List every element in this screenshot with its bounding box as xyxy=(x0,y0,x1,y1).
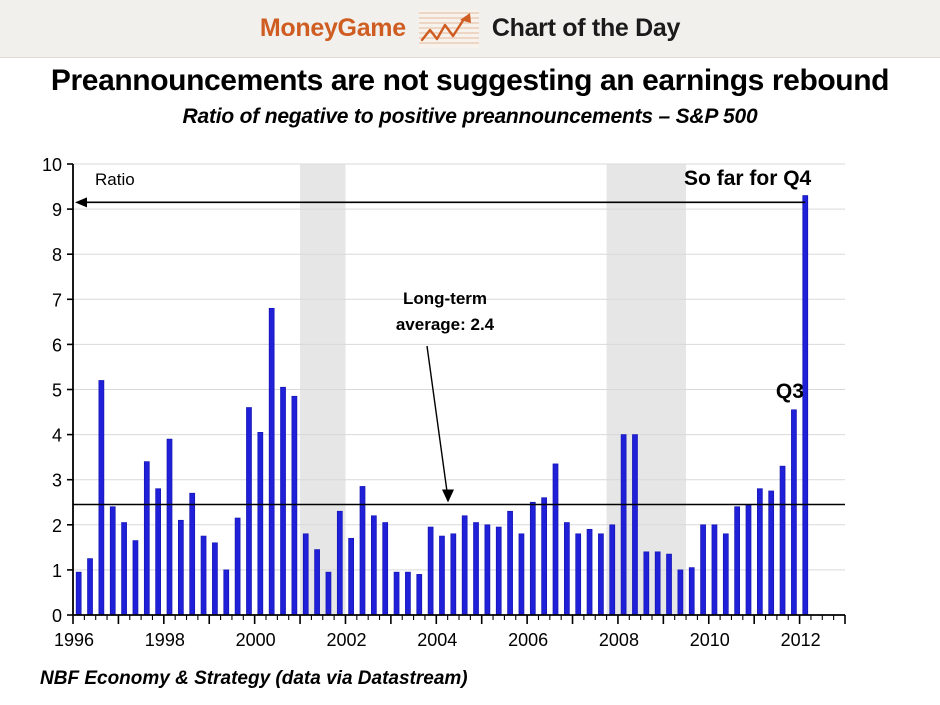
x-tick-label: 2006 xyxy=(508,630,548,650)
bar xyxy=(281,387,286,615)
bar xyxy=(689,568,694,615)
q3-label: Q3 xyxy=(776,380,804,403)
bar xyxy=(167,439,172,615)
source-footer: NBF Economy & Strategy (data via Datastr… xyxy=(40,668,468,690)
bar xyxy=(542,498,547,615)
bar xyxy=(553,464,558,615)
moneygame-logo-text: MoneyGame xyxy=(260,14,406,43)
bar xyxy=(530,502,535,615)
bars-group xyxy=(76,196,808,615)
y-tick-label: 5 xyxy=(52,381,62,401)
bar xyxy=(428,527,433,615)
x-tick-labels-group: 199619982000200220042006200820102012 xyxy=(54,630,821,650)
bar xyxy=(496,527,501,615)
bar xyxy=(201,536,206,615)
bar xyxy=(349,538,354,615)
bar xyxy=(292,396,297,615)
bar xyxy=(451,534,456,615)
y-tick-label: 3 xyxy=(52,471,62,491)
brand-header-bar: MoneyGame Chart of the Day xyxy=(0,0,940,58)
bar xyxy=(644,552,649,615)
bar xyxy=(110,507,115,615)
bar xyxy=(791,410,796,615)
y-tick-label: 4 xyxy=(52,426,62,446)
bar xyxy=(269,308,274,615)
bar xyxy=(144,462,149,615)
bar xyxy=(371,516,376,615)
bar xyxy=(360,486,365,615)
bar xyxy=(667,554,672,615)
so-far-for-q4-label: So far for Q4 xyxy=(684,167,812,190)
x-tick-label: 2012 xyxy=(781,630,821,650)
bar xyxy=(587,529,592,615)
bar xyxy=(178,520,183,615)
average-callout-arrow-line xyxy=(427,346,447,492)
bar xyxy=(156,489,161,615)
bar xyxy=(405,572,410,615)
bar xyxy=(76,572,81,615)
bar xyxy=(576,534,581,615)
q4-callout-arrow-head xyxy=(75,197,87,207)
bar xyxy=(701,525,706,615)
bar xyxy=(303,534,308,615)
bar xyxy=(326,572,331,615)
bar xyxy=(258,432,263,615)
bar xyxy=(508,511,513,615)
bar xyxy=(564,523,569,615)
chart-of-the-day-text: Chart of the Day xyxy=(492,14,680,43)
bar xyxy=(803,196,808,615)
y-tick-label: 1 xyxy=(52,561,62,581)
bar xyxy=(723,534,728,615)
x-tick-label: 2004 xyxy=(417,630,457,650)
bar xyxy=(757,489,762,615)
bar xyxy=(485,525,490,615)
bar xyxy=(337,511,342,615)
bar xyxy=(462,516,467,615)
bar xyxy=(439,536,444,615)
bar xyxy=(224,570,229,615)
bar xyxy=(769,491,774,615)
average-callout-line1: Long-term xyxy=(403,289,487,308)
bar xyxy=(519,534,524,615)
bar xyxy=(632,435,637,615)
y-tick-label: 2 xyxy=(52,516,62,536)
bar xyxy=(394,572,399,615)
x-tick-label: 2002 xyxy=(326,630,366,650)
y-tick-label: 9 xyxy=(52,200,62,220)
bar xyxy=(655,552,660,615)
bar xyxy=(235,518,240,615)
bar xyxy=(99,380,104,615)
gridlines-group xyxy=(73,164,845,570)
axis-unit-label: Ratio xyxy=(95,170,135,189)
average-callout-line2: average: 2.4 xyxy=(396,315,495,334)
bar xyxy=(610,525,615,615)
y-tick-label: 0 xyxy=(52,606,62,626)
brand-header-inner: MoneyGame Chart of the Day xyxy=(260,10,680,48)
bar xyxy=(746,505,751,615)
page-title: Preannouncements are not suggesting an e… xyxy=(0,64,940,98)
y-tick-label: 6 xyxy=(52,335,62,355)
bar xyxy=(417,574,422,615)
bar xyxy=(735,507,740,615)
annotations-group: RatioSo far for Q4Q3Long-termaverage: 2.… xyxy=(75,167,812,503)
bar xyxy=(474,523,479,615)
average-callout-arrow-head xyxy=(442,490,454,503)
bar xyxy=(383,523,388,615)
bar xyxy=(315,550,320,615)
y-tick-label: 7 xyxy=(52,290,62,310)
y-tick-label: 10 xyxy=(42,155,62,175)
bar xyxy=(678,570,683,615)
bar xyxy=(122,523,127,615)
bar xyxy=(712,525,717,615)
bar xyxy=(621,435,626,615)
x-tick-label: 2000 xyxy=(236,630,276,650)
preannouncement-ratio-bar-chart: 012345678910 199619982000200220042006200… xyxy=(0,140,940,650)
page-subtitle: Ratio of negative to positive preannounc… xyxy=(0,105,940,129)
line-chart-icon xyxy=(419,10,479,48)
bar xyxy=(212,543,217,615)
x-tick-label: 2008 xyxy=(599,630,639,650)
x-tick-label: 2010 xyxy=(690,630,730,650)
bar xyxy=(88,559,93,615)
chart-container: 012345678910 199619982000200220042006200… xyxy=(0,140,940,650)
x-tick-label: 1998 xyxy=(145,630,185,650)
x-tick-label: 1996 xyxy=(54,630,94,650)
y-tick-labels-group: 012345678910 xyxy=(42,155,62,626)
y-tick-label: 8 xyxy=(52,245,62,265)
bar xyxy=(598,534,603,615)
bar xyxy=(190,493,195,615)
bar xyxy=(780,466,785,615)
bar xyxy=(133,541,138,615)
bar xyxy=(246,408,251,615)
